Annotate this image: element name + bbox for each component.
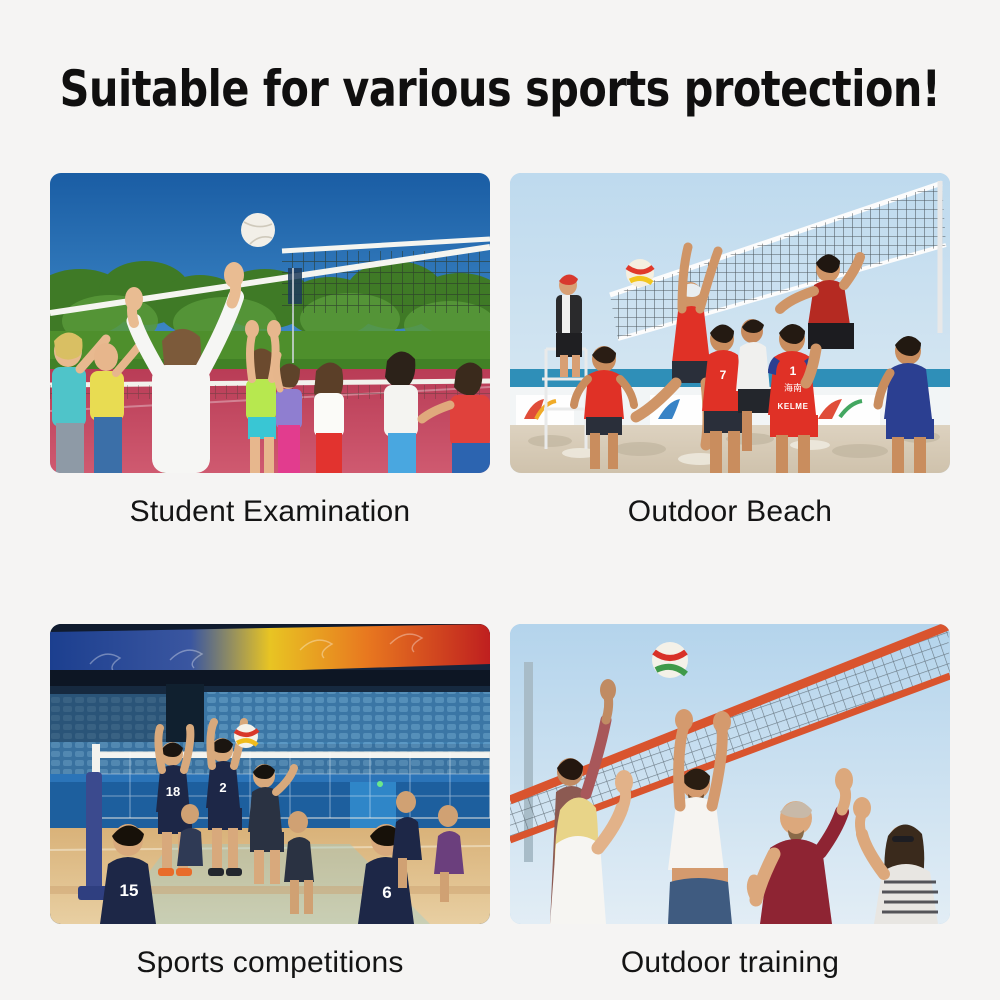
svg-text:1: 1 bbox=[790, 364, 797, 378]
svg-text:15: 15 bbox=[120, 881, 139, 900]
photo-outdoor-beach: 7 bbox=[510, 173, 950, 473]
panel-student-examination: Student Examination bbox=[50, 173, 490, 529]
svg-text:KELME: KELME bbox=[778, 402, 809, 411]
scene-outdoor-training bbox=[510, 624, 950, 924]
photo-student-examination bbox=[50, 173, 490, 473]
scene-sports-competitions: 18 bbox=[50, 624, 490, 924]
scene-outdoor-beach: 7 bbox=[510, 173, 950, 473]
svg-text:海南: 海南 bbox=[784, 382, 802, 393]
promo-page: Suitable for various sports protection! bbox=[0, 0, 1000, 1000]
panel-sports-competitions: 18 bbox=[50, 624, 490, 980]
svg-text:2: 2 bbox=[219, 780, 226, 795]
panel-outdoor-training: Outdoor training bbox=[510, 624, 950, 980]
caption-outdoor-beach: Outdoor Beach bbox=[510, 495, 950, 529]
scene-student-examination bbox=[50, 173, 490, 473]
svg-text:18: 18 bbox=[166, 784, 180, 799]
caption-sports-competitions: Sports competitions bbox=[50, 946, 490, 980]
svg-text:7: 7 bbox=[720, 368, 727, 382]
panel-outdoor-beach: 7 bbox=[510, 173, 950, 529]
panel-grid: Student Examination bbox=[50, 173, 950, 980]
photo-outdoor-training bbox=[510, 624, 950, 924]
svg-text:6: 6 bbox=[382, 883, 391, 902]
caption-student-examination: Student Examination bbox=[50, 495, 490, 529]
photo-sports-competitions: 18 bbox=[50, 624, 490, 924]
caption-outdoor-training: Outdoor training bbox=[510, 946, 950, 980]
page-title: Suitable for various sports protection! bbox=[40, 60, 960, 118]
